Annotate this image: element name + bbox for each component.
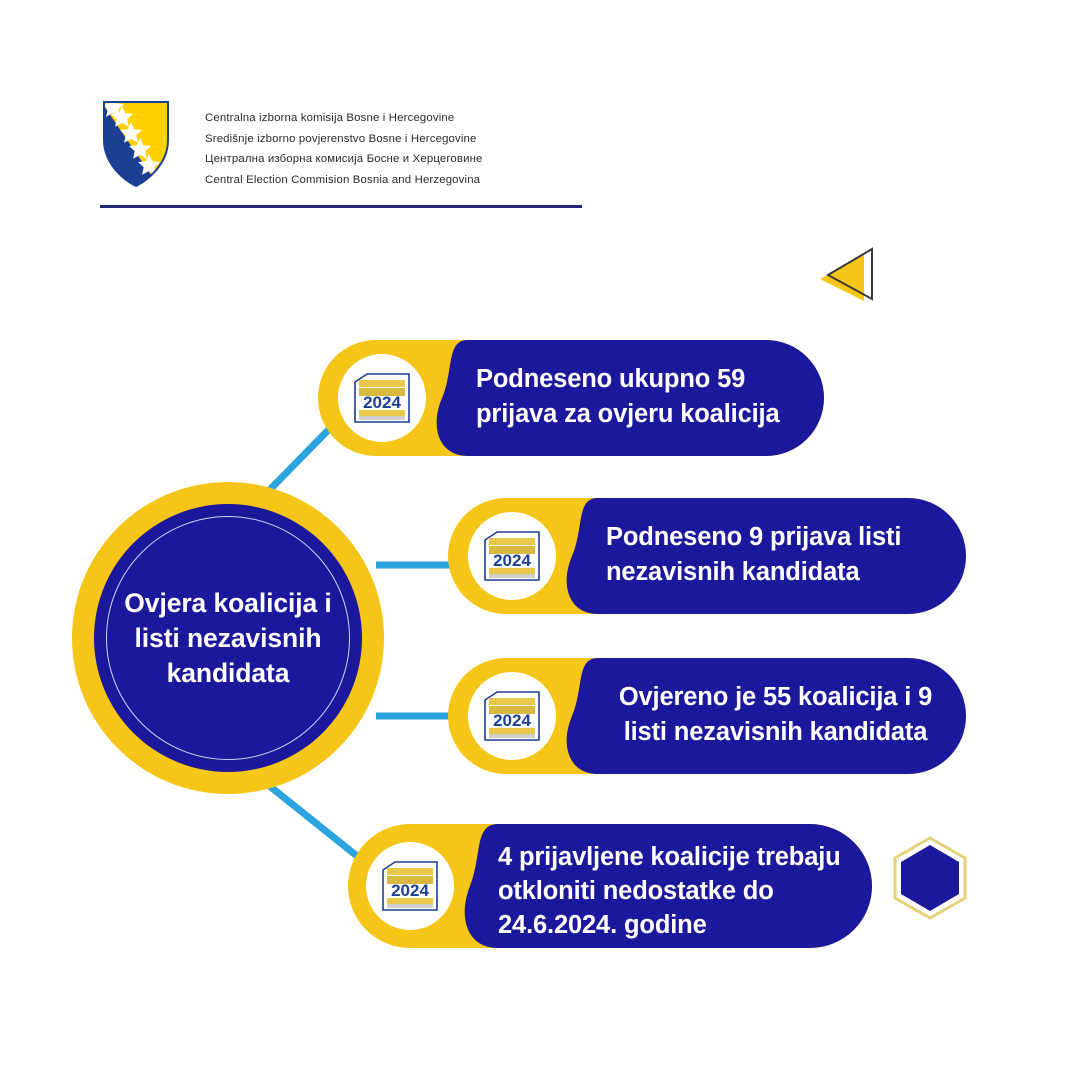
list-item-text-2: Podneseno 9 prijava listi nezavisnih kan… — [606, 520, 951, 590]
header-line-english: Central Election Commision Bosnia and He… — [205, 170, 585, 191]
election-2024-logo-icon: 2024 — [483, 530, 541, 582]
badge-circle-3: 2024 — [468, 672, 556, 760]
list-item[interactable]: 2024 Podneseno 9 prijava listi nezavisni… — [448, 498, 966, 614]
badge-circle-4: 2024 — [366, 842, 454, 930]
badge-circle-2: 2024 — [468, 512, 556, 600]
list-item[interactable]: 2024 Podneseno ukupno 59 prijava za ovje… — [318, 340, 824, 456]
svg-text:2024: 2024 — [363, 393, 401, 412]
election-2024-logo-icon: 2024 — [381, 860, 439, 912]
header-divider — [100, 205, 582, 208]
hub-title: Ovjera koalicija i listi nezavisnih kand… — [72, 482, 384, 794]
bosnia-herzegovina-coat-of-arms-icon — [100, 100, 172, 188]
election-2024-logo-icon: 2024 — [353, 372, 411, 424]
list-item-text-1: Podneseno ukupno 59 prijava za ovjeru ko… — [476, 362, 806, 432]
election-2024-logo-icon: 2024 — [483, 690, 541, 742]
header-line-bosnian: Centralna izborna komisija Bosne i Herce… — [205, 108, 585, 129]
svg-text:2024: 2024 — [391, 881, 429, 900]
infographic-canvas: Centralna izborna komisija Bosne i Herce… — [0, 0, 1084, 1080]
header: Centralna izborna komisija Bosne i Herce… — [100, 100, 590, 220]
list-item[interactable]: 2024 Ovjereno je 55 koalicija i 9 listi … — [448, 658, 966, 774]
badge-circle-1: 2024 — [338, 354, 426, 442]
header-organization-names: Centralna izborna komisija Bosne i Herce… — [205, 108, 585, 190]
header-line-serbian: Централна изборна комисија Босне и Херце… — [205, 149, 585, 170]
triangle-outline-shape-icon — [812, 243, 880, 311]
list-item-text-3: Ovjereno je 55 koalicija i 9 listi nezav… — [598, 680, 953, 750]
central-hub: Ovjera koalicija i listi nezavisnih kand… — [72, 482, 384, 794]
list-item[interactable]: 2024 4 prijavljene koalicije trebaju otk… — [348, 824, 872, 948]
header-line-croatian: Središnje izborno povjerenstvo Bosne i H… — [205, 129, 585, 150]
svg-text:2024: 2024 — [493, 551, 531, 570]
hexagon-shape-icon — [889, 834, 971, 922]
svg-text:2024: 2024 — [493, 711, 531, 730]
list-item-text-4: 4 prijavljene koalicije trebaju otklonit… — [498, 840, 858, 942]
